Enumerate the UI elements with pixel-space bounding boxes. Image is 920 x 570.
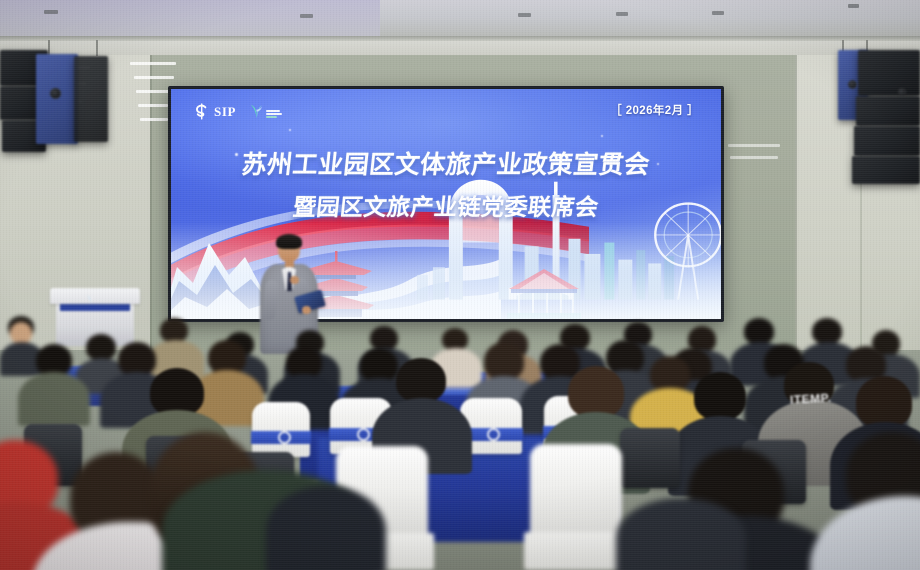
- presenter-hair: [276, 234, 302, 249]
- sparkle: [289, 129, 291, 131]
- ceiling-vent: [616, 12, 628, 16]
- sparkle: [601, 135, 603, 137]
- screen-title-line2: 暨园区文旅产业链党委联席会: [171, 188, 721, 222]
- podium-leaf-logo-icon: [86, 294, 95, 305]
- presenter-hand-right: [290, 276, 299, 284]
- blue-wave-graphic: [301, 245, 501, 319]
- chair-seat: [524, 532, 627, 570]
- carousel-graphic: [501, 267, 587, 319]
- presenter-hand-left: [302, 306, 311, 314]
- left-speaker-blue: [36, 54, 78, 144]
- wall-seam: [150, 55, 152, 355]
- screen-title-line1: 苏州工业园区文体旅产业政策宣贯会: [171, 145, 721, 181]
- ceiling-vent: [300, 14, 313, 18]
- speaker-cone-icon: [848, 80, 857, 89]
- wall-accent-line: [130, 62, 176, 65]
- ceiling-vent: [44, 10, 58, 14]
- right-speaker-cabinet: [856, 96, 920, 126]
- chair-sash-ring: [357, 428, 370, 441]
- speaker-cone-icon: [898, 88, 906, 96]
- secondary-logo-wordmark: [266, 110, 282, 120]
- jacket-text: ITEMP.: [790, 391, 832, 407]
- screen-title-block: 苏州工业园区文体旅产业政策宣贯会 暨园区文旅产业链党委联席会: [171, 145, 721, 222]
- ceiling-vent: [712, 11, 724, 15]
- ceiling-vent: [518, 13, 531, 17]
- sip-logo-text: SIP: [214, 105, 236, 118]
- wall-accent-line: [728, 144, 780, 147]
- speaker-rig-rod: [96, 40, 98, 56]
- podium-top: [50, 288, 140, 304]
- led-screen: SIP ［ 2026年2月 ］ 苏州工业园区文体旅: [168, 86, 724, 322]
- wall-accent-line: [134, 76, 174, 79]
- teal-leaf-mark-icon: [249, 103, 264, 120]
- wall-accent-line: [140, 118, 168, 121]
- secondary-logo: [249, 103, 282, 120]
- left-speaker-cabinet: [74, 56, 108, 142]
- wall-seam: [795, 55, 797, 355]
- conference-hall-photo: SIP ［ 2026年2月 ］ 苏州工业园区文体旅: [0, 0, 920, 570]
- covered-chair-front: [530, 444, 622, 570]
- wall-accent-line: [138, 104, 168, 107]
- ceiling-tint: [0, 0, 380, 40]
- right-speaker-cabinet: [854, 126, 920, 156]
- chair-sash-ring: [487, 428, 500, 441]
- right-speaker-cabinet: [858, 50, 920, 96]
- ceiling-vent: [848, 4, 859, 8]
- sip-s-mark-icon: [193, 103, 210, 120]
- chair-sash-ring: [278, 431, 291, 444]
- chair-back: [530, 444, 622, 540]
- screen-logos: SIP: [193, 103, 282, 120]
- chair-back: [252, 402, 310, 457]
- right-speaker-cabinet: [852, 156, 920, 184]
- office-chair: [620, 428, 680, 488]
- date-badge: ［ 2026年2月 ］: [610, 102, 699, 118]
- wall-accent-line: [136, 90, 170, 93]
- speaker-cone-icon: [50, 88, 61, 99]
- wall-accent-line: [730, 156, 778, 159]
- sip-logo: SIP: [193, 103, 236, 120]
- screen-fog: [171, 222, 721, 319]
